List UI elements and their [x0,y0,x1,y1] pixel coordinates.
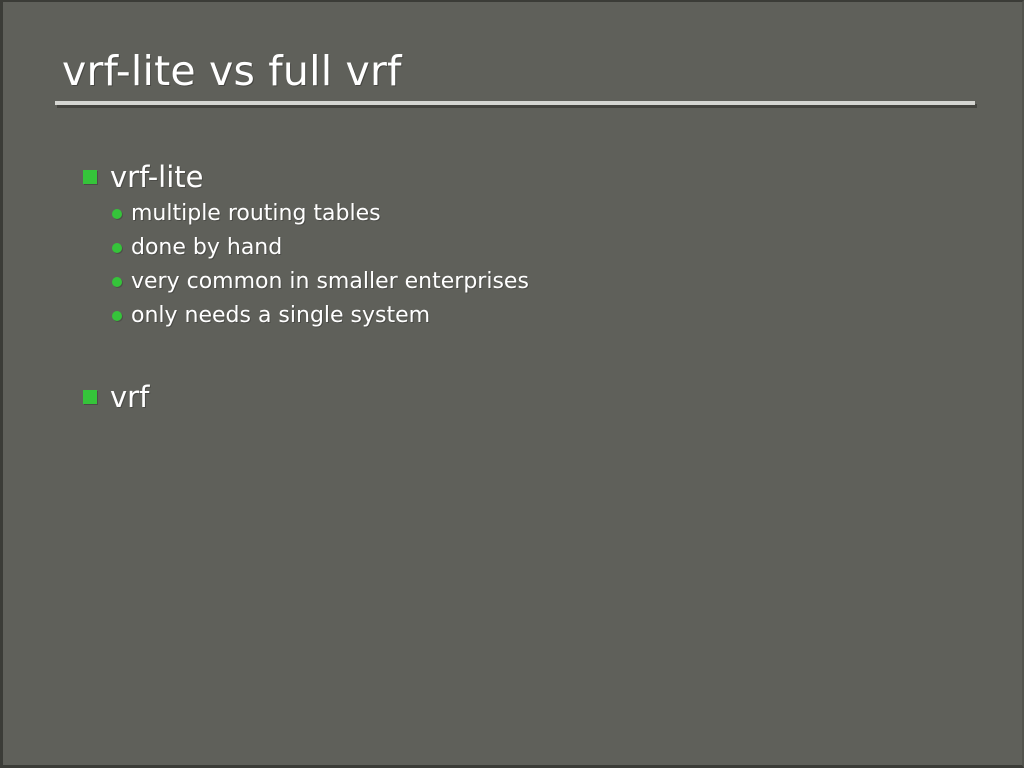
outline-item-level2: very common in smaller enterprises [3,265,1024,299]
outline-item-level2: only needs a single system [3,299,1024,333]
slide-body-outline: vrf-lite multiple routing tables done by… [3,157,1024,417]
dot-bullet-icon [112,311,122,321]
outline-item-level2: multiple routing tables [3,197,1024,231]
slide-title-block: vrf-lite vs full vrf [62,48,976,94]
outline-item-level1: vrf [3,377,1024,417]
page-title: vrf-lite vs full vrf [62,48,976,94]
outline-item-level2-label: only needs a single system [131,299,430,333]
outline-item-level2-label: very common in smaller enterprises [131,265,529,299]
outline-spacer [3,333,1024,377]
title-underline-rule [55,101,975,105]
outline-item-level1: vrf-lite [3,157,1024,197]
dot-bullet-icon [112,209,122,219]
outline-item-level2-label: done by hand [131,231,282,265]
outline-item-level2: done by hand [3,231,1024,265]
square-bullet-icon [83,390,97,404]
square-bullet-icon [83,170,97,184]
outline-item-level1-label: vrf-lite [110,157,204,197]
dot-bullet-icon [112,277,122,287]
presentation-slide: vrf-lite vs full vrf vrf-lite multiple r… [0,0,1024,768]
dot-bullet-icon [112,243,122,253]
outline-sublist: multiple routing tables done by hand ver… [3,197,1024,333]
outline-item-level2-label: multiple routing tables [131,197,381,231]
outline-item-level1-label: vrf [110,377,149,417]
